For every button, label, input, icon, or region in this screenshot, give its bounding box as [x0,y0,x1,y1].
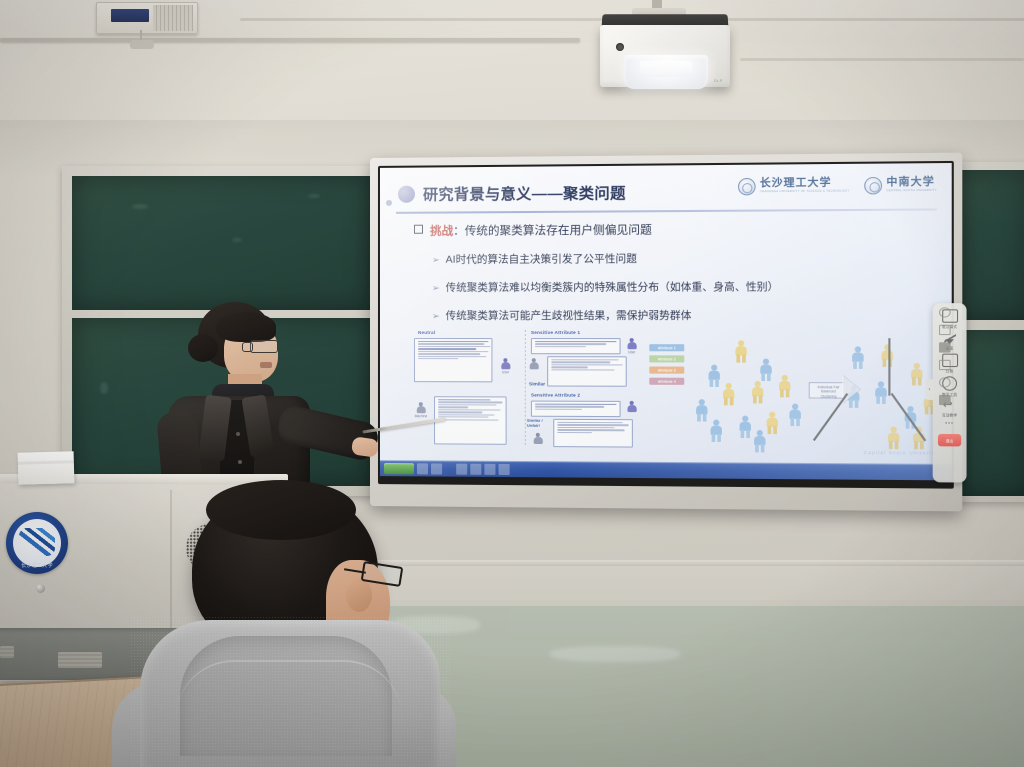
diagram-person-caption: User [492,370,518,374]
challenge-text: ：传统的聚类算法存在用户侧偏见问题 [453,221,652,238]
volume-icon[interactable] [938,325,950,335]
signal-icon[interactable] [938,342,950,352]
slide-bullet-3: ➢ 传统聚类算法可能产生歧视性结果，需保护弱势群体 [432,308,691,323]
person-glyph-icon [709,420,722,442]
diagram-box-sa1-answer [547,356,627,387]
diagram-annotation-unfair: Similar / Unfair! [527,419,551,429]
person-glyph-icon [777,375,791,398]
taskbar-item[interactable] [470,463,481,474]
teacher-glasses-side [242,342,253,352]
toolbar-label: 互动教学 [942,412,957,417]
challenge-statement: 挑战 ：传统的聚类算法存在用户侧偏见问题 [414,221,652,238]
podium-vent [58,652,102,668]
projector-sensor-icon [616,43,624,51]
person-glyph-icon [759,359,773,381]
blackboard-panel-upper-left [72,176,370,310]
bezel-status-dock [937,307,952,405]
diagram-box-neutral-answer [434,396,507,445]
diagram-column-label-sa1: Sensitive Attribute 1 [531,330,580,335]
diagram-person-caption: Machine [408,414,434,418]
projector-body: DLP [600,25,730,87]
ceiling-projector: DLP [600,14,730,90]
decor-dot-icon [386,200,392,206]
person-glyph-icon [788,404,802,427]
blackboard-panel-upper-right [956,170,1024,320]
student-hair-top [206,480,356,540]
logo-cn-name: 长沙理工大学 [760,178,850,189]
podium-lock-knob[interactable] [36,584,45,593]
legend-item: Attribute 2 [649,355,684,362]
diagram-divider [525,330,526,447]
battery-icon[interactable] [938,395,950,405]
square-bullet-icon [414,225,423,234]
diagram-machine-icon [416,402,426,413]
taskbar-item[interactable] [499,463,510,474]
slide-diagram: Neutral Sensitive Attribute 1 Sensitive … [400,330,935,454]
slide-bullet-2: ➢ 传统聚类算法难以均衡类簇内的特殊属性分布（如体重、身高、性别） [432,279,779,295]
classroom-photo: DLP 研究背景与意义——聚类问题 [0,0,1024,767]
slide-watermark: Capital Score Univeristy [864,450,941,456]
challenge-keyword: 挑战 [430,223,453,239]
logo-csu: 中南大学 CENTRAL SOUTH UNIVERSITY [864,177,937,195]
logo-swoosh-mark [19,528,55,556]
diagram-column-label-sa2: Sensitive Attribute 2 [531,393,580,398]
diagram-user-icon [627,401,637,412]
taskbar-item[interactable] [431,463,442,474]
diagram-person-caption: User [619,350,646,354]
university-seal-icon [864,177,882,195]
taskbar-item[interactable] [417,463,428,474]
person-glyph-icon [707,365,720,387]
slide-bullet-1: ➢ AI时代的算法自主决策引发了公平性问题 [432,251,637,267]
settings-icon[interactable] [938,377,950,387]
smartboard-screen[interactable]: 研究背景与意义——聚类问题 长沙理工大学 CHANGSHA UNIVERSITY… [380,163,952,480]
podium-university-logo: 长沙理工大学 [6,512,68,574]
diagram-annotation-similar: Similar [529,382,545,387]
ceiling-conduit-right [740,58,1024,61]
logo-en-name: CHANGSHA UNIVERSITY OF SCIENCE & TECHNOL… [760,191,850,194]
hoodie-texture [130,616,450,767]
university-logos: 长沙理工大学 CHANGSHA UNIVERSITY OF SCIENCE & … [738,177,937,196]
teacher-glasses [250,340,278,353]
ceiling-conduit [0,38,580,42]
legend-item: Attribute 1 [649,344,684,351]
person-glyph-icon [738,416,751,438]
diagram-box-neutral-query [414,338,492,382]
university-seal-icon [738,178,756,195]
arrow-label: Individual Fair Balanced Clustering [813,385,844,398]
student-ear [346,578,372,612]
person-glyph-icon [750,381,763,403]
presentation-slide: 研究背景与意义——聚类问题 长沙理工大学 CHANGSHA UNIVERSITY… [380,163,952,464]
person-glyph-icon [734,340,747,362]
diagram-column-label-neutral: Neutral [418,330,435,335]
slide-bullet-text: AI时代的算法自主决策引发了公平性问题 [446,251,637,267]
os-taskbar[interactable] [380,460,952,480]
smartboard-inner-bezel: 研究背景与意义——聚类问题 长沙理工大学 CHANGSHA UNIVERSITY… [378,161,954,489]
toolbar-collapse-handle[interactable]: ‹ [925,379,933,400]
taskbar-item[interactable] [484,463,495,474]
person-glyph-icon [753,430,766,453]
person-glyph-icon [909,363,923,386]
audience-student [130,486,450,767]
person-glyph-icon [721,383,734,405]
person-glyph-icon [765,412,779,435]
logo-en-name: CENTRAL SOUTH UNIVERSITY [886,190,936,193]
person-glyph-icon [880,344,894,367]
logo-cn-name: 中南大学 [886,178,936,189]
diagram-machine-icon [529,358,539,369]
diagram-box-sa1-query [531,338,621,354]
diagram-user-icon [501,358,511,369]
person-glyph-icon [874,381,888,404]
interactive-smartboard[interactable]: 研究背景与意义——聚类问题 长沙理工大学 CHANGSHA UNIVERSITY… [370,153,962,512]
slide-bullet-text: 传统聚类算法难以均衡类簇内的特殊属性分布（如体重、身高、性别） [446,279,779,295]
title-bullet-icon [398,185,415,202]
diagram-box-sa2-query [531,401,621,418]
person-glyph-icon [851,346,865,369]
paper-stack-box [18,451,75,484]
power-icon[interactable] [938,307,950,317]
teacher-hair-bun [188,334,218,362]
control-unit-vents [153,5,193,31]
wall-control-unit[interactable] [96,2,198,34]
cluster-split-lines [888,338,890,449]
slide-header: 研究背景与意义——聚类问题 长沙理工大学 CHANGSHA UNIVERSITY… [398,175,937,207]
teacher-fringe [216,312,276,342]
diagram-machine-icon [533,433,543,444]
podium-logo-text: 长沙理工大学 [16,562,58,569]
teacher-mouth [260,362,272,368]
arrow-bullet-icon: ➢ [432,311,440,322]
more-icon: ••• [945,421,954,427]
slide-title: 研究背景与意义——聚类问题 [423,182,626,205]
diagram-box-sa2-answer [553,419,633,448]
crowd-before-clustering [693,332,807,451]
projector-brand-label: DLP [714,78,723,83]
person-glyph-icon [695,399,708,421]
diagram-legend: Attribute 1 Attribute 2 Attribute 3 Attr… [649,344,684,389]
logo-changsha: 长沙理工大学 CHANGSHA UNIVERSITY OF SCIENCE & … [738,177,850,195]
control-unit-display [111,9,149,22]
arrow-bullet-icon: ➢ [432,255,440,266]
legend-item: Attribute 4 [649,378,684,385]
input-icon[interactable] [938,360,950,370]
toolbar-more-button[interactable]: ••• [936,421,964,427]
toolbar-exit-button[interactable]: 退出 [938,434,961,446]
arrow-bullet-icon: ➢ [432,283,440,294]
podium-vent-left [0,646,14,658]
slide-bullet-text: 传统聚类算法可能产生歧视性结果，需保护弱势群体 [446,308,692,323]
diagram-user-icon [627,338,637,349]
projector-lens [624,55,708,89]
control-unit-plug [130,40,154,49]
title-underline [396,208,937,213]
transform-arrow-icon: Individual Fair Balanced Clustering [809,375,861,404]
legend-item: Attribute 3 [649,366,684,373]
taskbar-item[interactable] [456,463,467,474]
